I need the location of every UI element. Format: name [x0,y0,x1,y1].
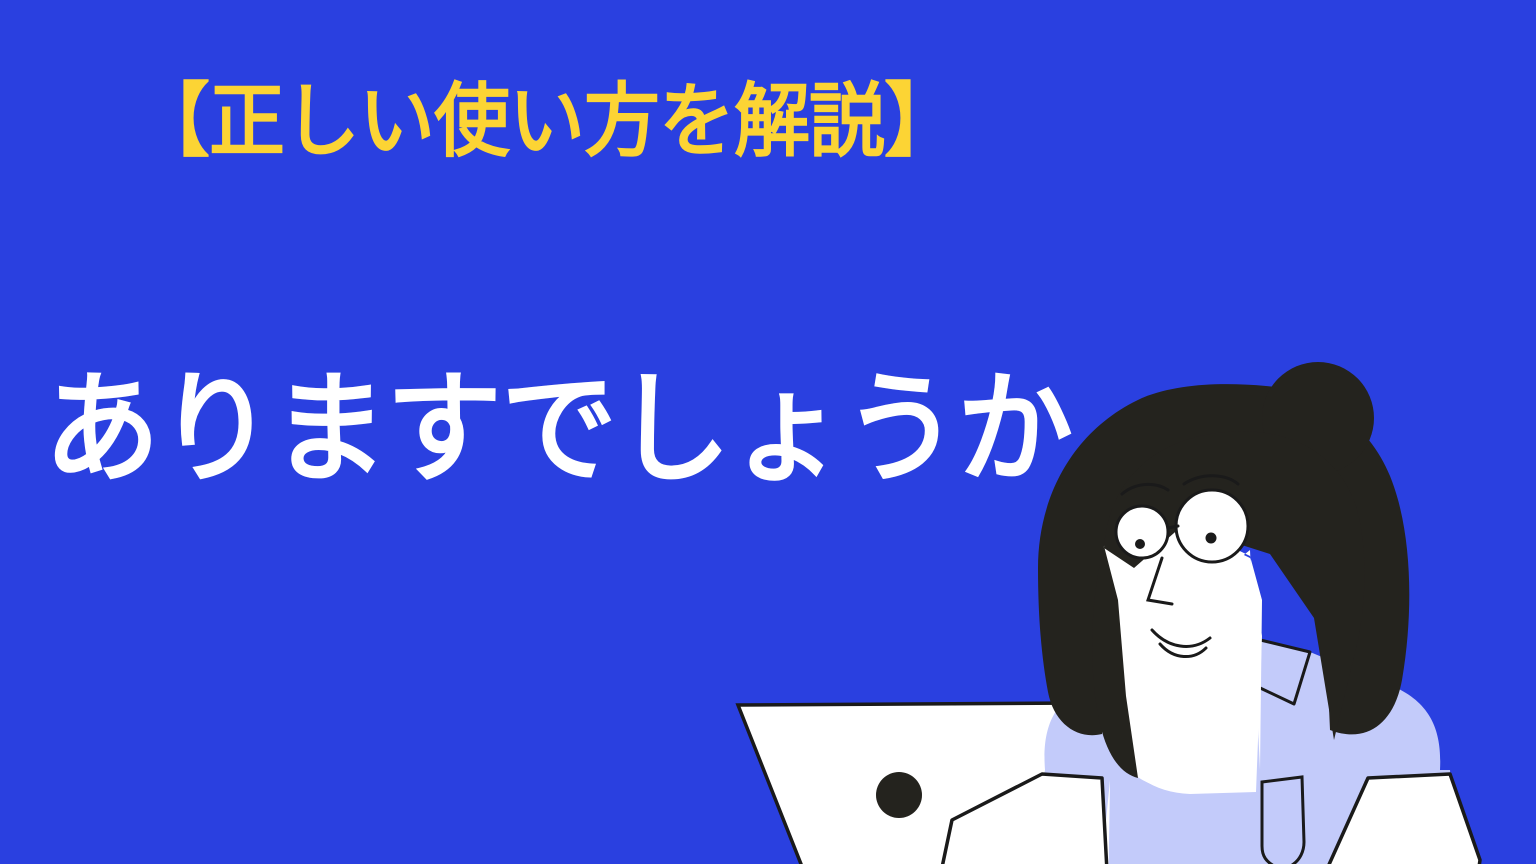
headline-text: 【正しい使い方を解説】 [134,82,959,163]
glasses-bridge [1168,526,1178,528]
pupil-right [1206,533,1217,544]
glasses-lens-right [1176,490,1248,562]
pupil-left [1135,539,1145,549]
thumbnail-canvas: 【正しい使い方を解説】 ありますでしょうか [0,0,1536,864]
laptop-logo-icon [876,772,922,818]
glasses-lens-left [1116,506,1168,558]
main-text: ありますでしょうか [44,368,1071,490]
